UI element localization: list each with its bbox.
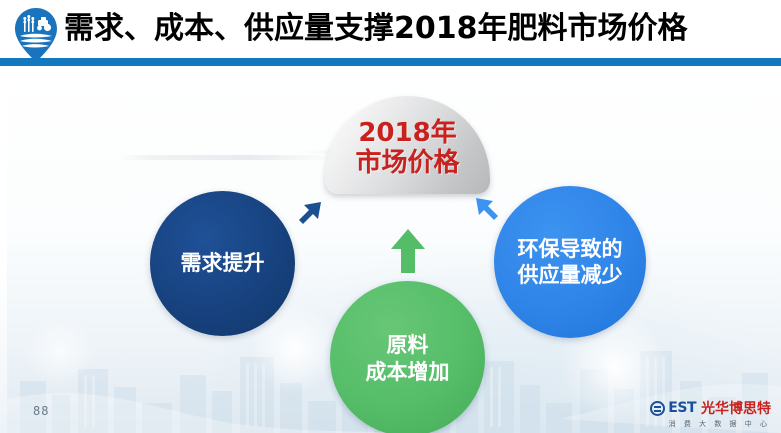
slide-canvas: 需求、成本、供应量支撑2018年肥料市场价格 [0,0,781,433]
brand-name-en: EST [668,400,696,416]
node-cost-label-1: 原料 [387,332,429,359]
center-node-line-2: 市场价格 [355,148,459,179]
center-node-market-price: 2018年 市场价格 [325,96,490,194]
node-supply-label-2: 供应量减少 [518,262,623,288]
header-accent-rule [0,58,781,66]
arrow-up-icon [388,227,428,275]
brand-logo: EST 光华博思特 消 费 大 数 据 中 心 [650,398,771,429]
slide-header: 需求、成本、供应量支撑2018年肥料市场价格 [0,0,781,58]
arrow-up-right-icon [295,194,331,230]
node-demand-label-1: 需求提升 [181,251,265,276]
node-supply-decrease[interactable]: 环保导致的 供应量减少 [494,186,646,338]
brand-tagline: 消 费 大 数 据 中 心 [669,419,770,429]
node-supply-label-1: 环保导致的 [518,236,623,262]
decorative-streak-1 [118,155,336,160]
page-title: 需求、成本、供应量支撑2018年肥料市场价格 [64,7,688,51]
left-edge-margin [0,66,7,433]
page-number: 88 [33,404,49,418]
agriculture-location-pin-icon [12,6,60,64]
node-demand-increase[interactable]: 需求提升 [150,191,295,336]
best-logo-icon [650,401,665,416]
brand-name-cn: 光华博思特 [701,398,771,418]
node-cost-label-2: 成本增加 [366,359,450,386]
diagram-canvas: 2018年 市场价格 需求提升 环保导致的 供应量减少 [0,66,781,433]
center-node-line-1: 2018年 [358,118,456,148]
arrow-up-left-icon [466,190,502,226]
node-raw-material-cost[interactable]: 原料 成本增加 [330,281,485,433]
